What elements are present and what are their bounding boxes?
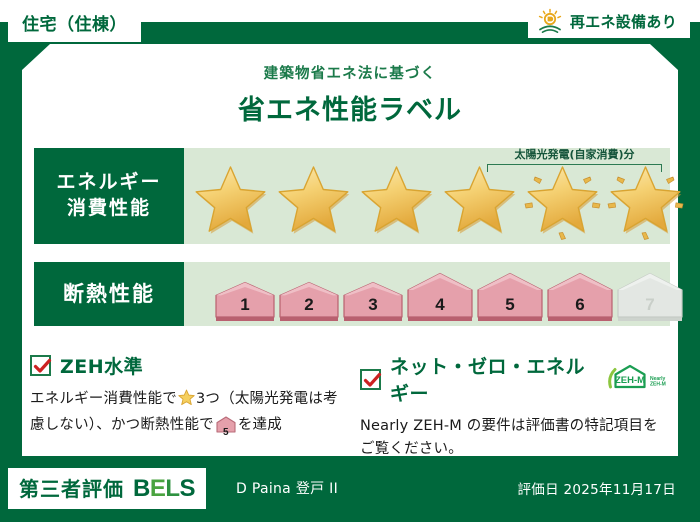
inline-house-value: 5 [216, 425, 236, 441]
net-zero-energy-section: ネット・ゼロ・エネルギー ZEH-M Nearly ZEH-M Nearly Z… [360, 352, 672, 462]
title-main: 省エネ性能ラベル [0, 88, 700, 127]
building-name: D Paina 登戸 II [236, 478, 338, 498]
insulation-performance-row: 断熱性能 1 2 3 4 [34, 262, 670, 326]
bels-letter-e: E [150, 475, 166, 502]
footer-bar: 第三者評価 BELS D Paina 登戸 II 評価日 2025年11月17日 [0, 466, 700, 522]
insulation-level-badge: 5 [476, 272, 544, 322]
insulation-level-value: 5 [476, 295, 544, 315]
zeh-m-logo: ZEH-M Nearly ZEH-M [606, 363, 672, 395]
svg-text:ZEH-M: ZEH-M [615, 375, 645, 386]
star-icon-solar [522, 163, 603, 241]
energy-label-line2: 消費性能 [67, 196, 151, 222]
net-zero-body: Nearly ZEH-M の要件は評価書の特記項目をご覧ください。 [360, 415, 672, 462]
star-icon [190, 163, 271, 241]
star-icon [273, 163, 354, 241]
checkmark-icon [360, 369, 381, 390]
insulation-level-value: 4 [406, 295, 474, 315]
renewable-badge-label: 再エネ設備あり [570, 11, 677, 32]
zeh-standard-title: ZEH水準 [60, 352, 143, 379]
insulation-level-value: 3 [342, 295, 404, 315]
zeh-body-part3: を達成 [238, 417, 282, 433]
bels-letter-s: S [180, 475, 196, 502]
star-icon-solar [605, 163, 686, 241]
insulation-level-badge: 2 [278, 281, 340, 322]
insulation-level-value: 1 [214, 295, 276, 315]
insulation-performance-body: 1 2 3 4 5 [184, 262, 670, 326]
insulation-level-badge: 6 [546, 272, 614, 322]
insulation-level-badge: 1 [214, 281, 276, 322]
bels-logo: BELS [133, 475, 195, 503]
bels-jp-label: 第三者評価 [19, 473, 124, 502]
zeh-standard-section: ZEH水準 エネルギー消費性能で3つ（太陽光発電は考慮しない）、かつ断熱性能で5… [30, 352, 350, 442]
energy-performance-row: エネルギー 消費性能 太陽光発電(自家消費)分 [34, 148, 670, 244]
insulation-level-badge-inactive: 7 [616, 272, 684, 322]
solar-annotation-label: 太陽光発電(自家消費)分 [487, 146, 662, 162]
checkmark-icon [30, 355, 51, 376]
energy-performance-body: 太陽光発電(自家消費)分 [184, 148, 670, 244]
title-subtitle: 建築物省エネ法に基づく [0, 62, 700, 83]
insulation-level-value: 7 [616, 295, 684, 315]
zeh-body-part1: エネルギー消費性能で [30, 391, 177, 407]
bels-letter-l: L [165, 475, 179, 502]
bels-evaluation-box: 第三者評価 BELS [8, 468, 206, 509]
inline-house-badge: 5 [216, 416, 236, 441]
renewable-energy-badge: 再エネ設備あり [528, 4, 690, 38]
star-icon [439, 163, 520, 241]
zeh-standard-body: エネルギー消費性能で3つ（太陽光発電は考慮しない）、かつ断熱性能で5を達成 [30, 388, 350, 442]
inline-star-icon [178, 389, 195, 414]
zeh-standard-header: ZEH水準 [30, 352, 350, 379]
star-rating-strip [190, 162, 666, 242]
net-zero-title: ネット・ゼロ・エネルギー [390, 352, 591, 406]
energy-label-card: 住宅（住棟） 再エネ設備あり 建築物省エネ法に基づく 省エネ性能ラベル [0, 0, 700, 522]
insulation-level-strip: 1 2 3 4 5 [214, 272, 664, 322]
insulation-level-badge: 3 [342, 281, 404, 322]
energy-performance-label: エネルギー 消費性能 [34, 148, 184, 244]
title-block: 建築物省エネ法に基づく 省エネ性能ラベル [0, 62, 700, 127]
insulation-performance-label: 断熱性能 [34, 262, 184, 326]
insulation-level-value: 2 [278, 295, 340, 315]
building-type-tag: 住宅（住棟） [8, 4, 141, 42]
insulation-label-text: 断熱性能 [63, 280, 155, 308]
svg-text:ZEH-M: ZEH-M [650, 382, 666, 388]
insulation-level-badge: 4 [406, 272, 474, 322]
evaluation-date: 評価日 2025年11月17日 [517, 478, 676, 498]
energy-label-line1: エネルギー [56, 170, 161, 196]
insulation-level-value: 6 [546, 295, 614, 315]
sun-renewable-icon [537, 8, 563, 34]
net-zero-header: ネット・ゼロ・エネルギー ZEH-M Nearly ZEH-M [360, 352, 672, 406]
star-icon [356, 163, 437, 241]
bels-letter-b: B [133, 475, 150, 502]
